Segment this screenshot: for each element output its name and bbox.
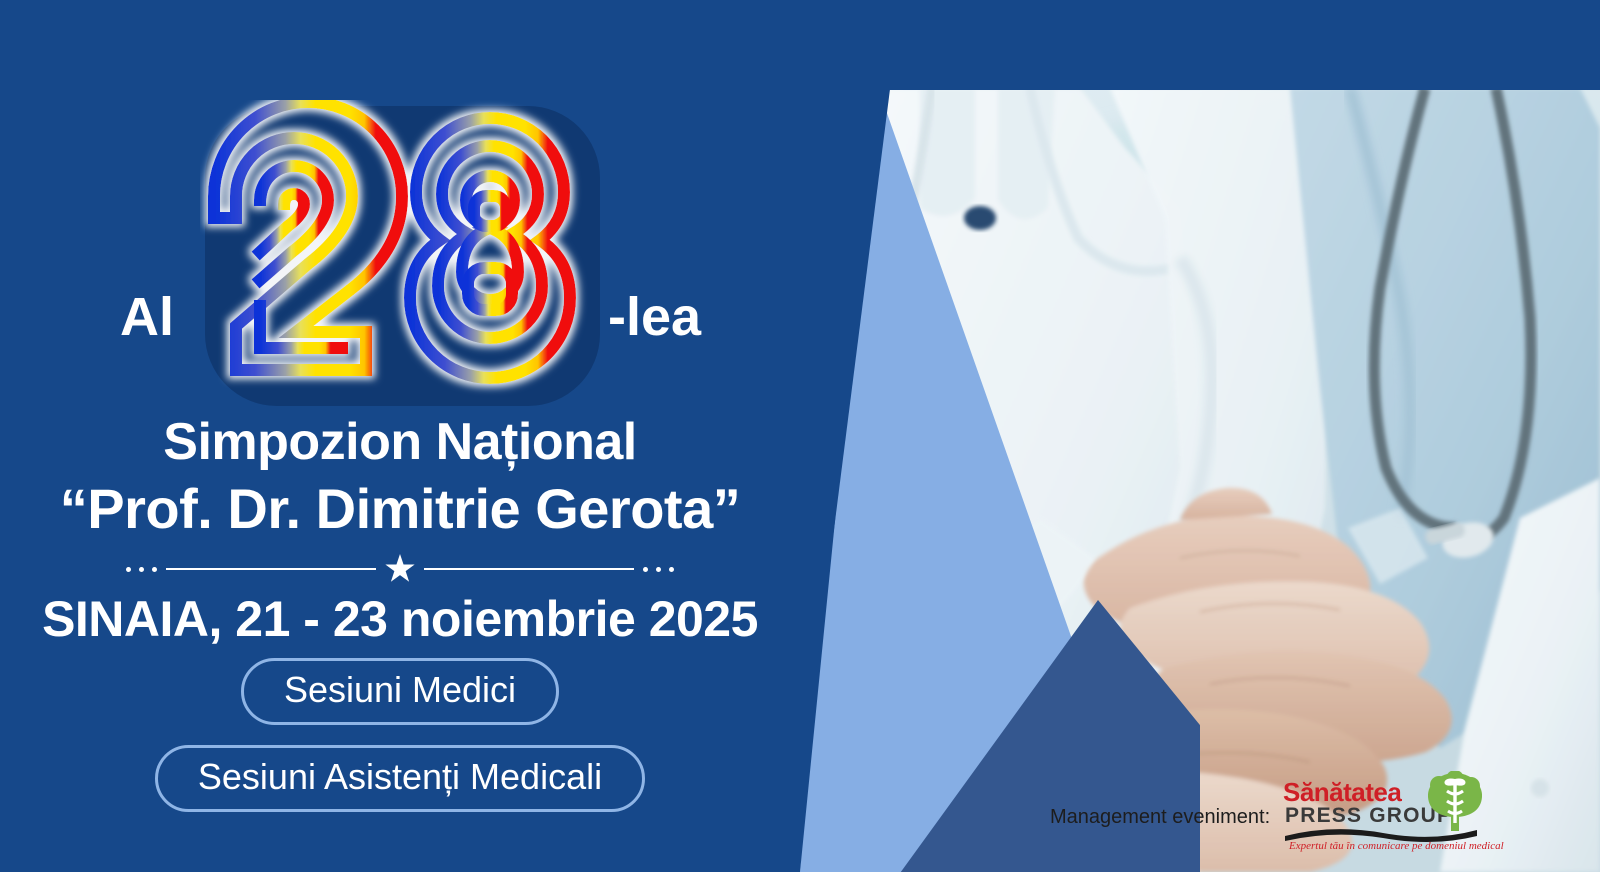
edition-prefix: Al [120,286,174,348]
divider-rule-left [166,568,376,570]
session-button-asistenti[interactable]: Sesiuni Asistenți Medicali [155,745,645,812]
star-icon [385,554,415,584]
management-label: Management eveniment: [1050,806,1270,829]
divider-dots-right [643,567,674,572]
star-divider [85,552,715,586]
divider-dot [139,567,144,572]
logo-tagline: Expertul tău în comunicare pe domeniul m… [1289,840,1504,852]
divider-dot [669,567,674,572]
divider-dot [643,567,648,572]
event-date-location: SINAIA, 21 - 23 noiembrie 2025 [0,590,800,648]
edition-number-28 [200,100,610,410]
divider-rule-right [424,568,634,570]
edition-logo-row: Al [0,100,800,410]
left-content-column: Al [0,90,800,872]
divider-dots-left [126,567,157,572]
session-button-medici[interactable]: Sesiuni Medici [241,658,559,725]
event-name: “Prof. Dr. Dimitrie Gerota” [0,476,800,541]
tree-icon [1425,771,1485,833]
divider-dot [152,567,157,572]
divider-dot [126,567,131,572]
edition-number-graphic [200,100,610,410]
edition-suffix: -lea [608,286,701,348]
divider-dot [656,567,661,572]
top-navy-band [0,0,1600,90]
session-buttons-group: Sesiuni Medici Sesiuni Asistenți Medical… [0,658,800,812]
event-subtitle: Simpozion Național [0,412,800,472]
conference-banner: COLABORARE - NETWORKING - ȘTIINȚĂ Al [0,0,1600,872]
sanatatea-press-group-logo[interactable]: Sănătatea PRESS GROUP Expertul tău în co… [1283,775,1479,855]
